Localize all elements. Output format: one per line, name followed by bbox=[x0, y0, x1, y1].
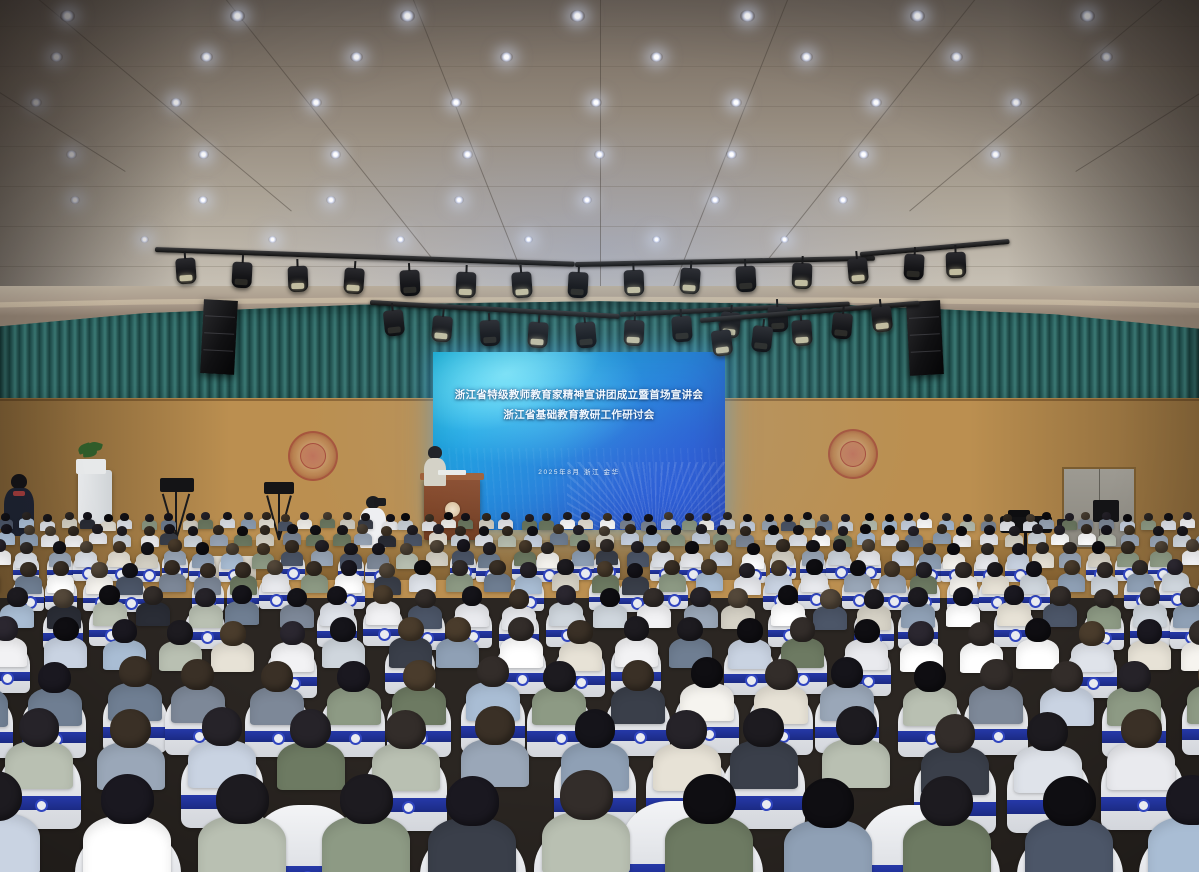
audience-member-head bbox=[556, 585, 576, 605]
audience-member-head bbox=[327, 586, 347, 606]
stage-par-light bbox=[679, 267, 701, 294]
audience-member-head bbox=[489, 560, 505, 576]
audience-member-head bbox=[525, 514, 534, 522]
par-light-lens bbox=[754, 342, 768, 349]
audience-member-head bbox=[433, 524, 444, 534]
audience-member bbox=[1148, 775, 1199, 872]
par-light-lens bbox=[949, 269, 962, 275]
audience-member-head bbox=[1140, 587, 1160, 607]
audience-member-torso bbox=[1025, 818, 1113, 872]
audience-member-head bbox=[53, 561, 69, 577]
ceiling-downlight bbox=[60, 10, 75, 22]
audience-member-head bbox=[820, 514, 829, 522]
audience-member-head bbox=[968, 622, 994, 647]
audience-member-head bbox=[196, 542, 209, 555]
audience-member-head bbox=[202, 707, 243, 746]
par-light-lens bbox=[851, 274, 864, 281]
audience-member bbox=[354, 524, 372, 544]
screen-title-line-2: 浙江省基础教育教研工作研讨会 bbox=[433, 408, 725, 422]
audience-member-head bbox=[145, 514, 154, 522]
audience-member-head bbox=[815, 526, 826, 536]
audience-member-head bbox=[600, 539, 613, 552]
audience-member-head bbox=[1121, 709, 1162, 748]
ceiling-downlight bbox=[800, 52, 813, 62]
audience-member-head bbox=[235, 562, 251, 578]
audience-member bbox=[550, 524, 568, 544]
par-light-lens bbox=[459, 289, 472, 295]
audience-member-head bbox=[216, 774, 269, 824]
audience-member-head bbox=[624, 616, 650, 641]
line-array-speaker-right bbox=[906, 300, 944, 376]
audience-member bbox=[62, 512, 77, 528]
stage-par-light bbox=[431, 315, 453, 343]
audience-member-head bbox=[306, 561, 322, 577]
audience-member-head bbox=[664, 560, 680, 576]
audience-member-head bbox=[987, 562, 1003, 578]
audience-member-head bbox=[543, 661, 575, 692]
audience-member-torso bbox=[428, 818, 516, 872]
audience-member-head bbox=[45, 526, 56, 536]
audience-member-head bbox=[1189, 620, 1199, 645]
audience-member-head bbox=[1166, 775, 1199, 825]
audience-member-head bbox=[502, 526, 513, 536]
podium-laptop bbox=[438, 470, 466, 475]
ceiling-downlight bbox=[570, 10, 585, 22]
ceiling-downlight bbox=[140, 236, 149, 243]
audience-member-head bbox=[690, 587, 710, 607]
audience-member-head bbox=[65, 512, 74, 520]
audience-member bbox=[409, 560, 436, 591]
stage-par-light bbox=[456, 272, 477, 299]
audience-member-head bbox=[188, 526, 199, 536]
audience-member-head bbox=[508, 617, 534, 642]
stage-par-light bbox=[288, 266, 309, 293]
ceiling-panel-seam bbox=[1075, 0, 1199, 172]
audience-member-head bbox=[520, 562, 536, 578]
par-light-lens bbox=[834, 329, 847, 336]
stage-par-light bbox=[175, 257, 197, 284]
audience-member-head bbox=[1042, 512, 1051, 520]
audience-member bbox=[1025, 776, 1113, 872]
ceiling-downlight bbox=[230, 10, 245, 22]
audience-member-head bbox=[908, 621, 934, 646]
audience-member-head bbox=[1124, 525, 1135, 535]
audience-member-head bbox=[287, 588, 307, 608]
audience-member-head bbox=[685, 513, 694, 521]
audience-member-head bbox=[984, 525, 995, 535]
ceiling-downlight bbox=[726, 150, 737, 159]
audience-member-head bbox=[113, 541, 126, 554]
audience-member-head bbox=[220, 621, 246, 646]
audience-member-head bbox=[728, 588, 748, 608]
audience-member-head bbox=[820, 589, 840, 609]
audience-member-head bbox=[452, 560, 468, 576]
audience-member-head bbox=[19, 708, 60, 747]
audience-member-head bbox=[600, 588, 620, 608]
ceiling-downlight bbox=[730, 98, 742, 107]
audience-member-head bbox=[702, 513, 711, 521]
ceiling-panel-seam bbox=[15, 0, 292, 212]
audience-member-head bbox=[527, 526, 538, 536]
audience-member-head bbox=[947, 543, 960, 556]
audience-member-head bbox=[186, 513, 195, 521]
audience-member-head bbox=[195, 588, 215, 608]
stage-par-light bbox=[792, 263, 813, 290]
audience-member-head bbox=[597, 561, 613, 577]
audience-member bbox=[225, 585, 259, 624]
audience-member-head bbox=[1064, 560, 1080, 576]
audience-member-head bbox=[803, 512, 812, 520]
ceiling-downlight bbox=[652, 236, 661, 243]
ceiling-downlight bbox=[1080, 10, 1095, 22]
audience-member-head bbox=[1050, 586, 1070, 606]
audience-member bbox=[83, 774, 171, 872]
audience-member-head bbox=[53, 617, 79, 642]
ceiling-downlight bbox=[198, 150, 209, 159]
line-array-speaker-left bbox=[200, 299, 238, 375]
audience-member bbox=[659, 560, 686, 591]
audience-member-head bbox=[519, 540, 532, 553]
audience-member-head bbox=[599, 526, 610, 536]
audience-member-head bbox=[446, 776, 499, 826]
audience-member-head bbox=[603, 513, 612, 521]
audience-member-head bbox=[916, 562, 932, 578]
par-light-lens bbox=[675, 333, 688, 340]
audience-member-head bbox=[373, 585, 393, 605]
par-light-lens bbox=[483, 337, 496, 344]
ceiling-downlight bbox=[1100, 52, 1113, 62]
stage-par-light bbox=[671, 315, 693, 342]
audience-member-head bbox=[737, 618, 763, 643]
audience-member-head bbox=[567, 620, 593, 645]
audience-member-torso bbox=[1187, 685, 1199, 723]
audience-member-head bbox=[414, 560, 430, 576]
audience-member-head bbox=[0, 771, 22, 821]
audience-member-head bbox=[850, 560, 866, 576]
ceiling-downlight bbox=[870, 98, 882, 107]
ceiling-downlight bbox=[594, 150, 605, 159]
audience-member-head bbox=[7, 587, 27, 607]
par-light-lens bbox=[515, 289, 528, 296]
stage-par-light bbox=[399, 269, 420, 296]
audience-member-head bbox=[261, 661, 293, 692]
audience-member bbox=[389, 617, 432, 666]
audience-member-head bbox=[280, 621, 306, 646]
plant-pot bbox=[76, 459, 106, 474]
audience-member-head bbox=[290, 709, 331, 748]
par-light-lens bbox=[626, 337, 639, 344]
audience-member-head bbox=[483, 542, 496, 555]
audience-member bbox=[1028, 524, 1046, 544]
audience-member-head bbox=[1177, 526, 1188, 536]
audience-member-head bbox=[232, 585, 252, 605]
audience-member bbox=[980, 525, 998, 545]
audience-member-head bbox=[119, 656, 151, 687]
audience-member-head bbox=[1027, 712, 1068, 751]
audience-member-head bbox=[920, 512, 929, 520]
audience-member-torso bbox=[1148, 817, 1199, 872]
audience-member-head bbox=[691, 657, 723, 688]
ceiling-downlight bbox=[30, 98, 42, 107]
audience-member-head bbox=[477, 656, 509, 687]
audience-member-head bbox=[884, 561, 900, 577]
audience-member bbox=[844, 560, 871, 591]
stage-par-light bbox=[735, 265, 756, 292]
audience-member-head bbox=[677, 617, 703, 642]
ceiling-downlight bbox=[50, 52, 63, 62]
audience-member bbox=[198, 774, 286, 872]
audience-member-head bbox=[167, 620, 193, 645]
ceiling-downlight bbox=[66, 150, 77, 159]
audience-member-head bbox=[330, 617, 356, 642]
audience-member-head bbox=[337, 661, 369, 692]
audience-member-head bbox=[260, 525, 271, 535]
audience-member-head bbox=[257, 543, 270, 556]
audience-member-head bbox=[120, 513, 129, 521]
ceiling-panel-seam bbox=[0, 0, 126, 172]
ceiling-downlight bbox=[582, 196, 592, 204]
par-light-lens bbox=[795, 337, 808, 344]
audience-member-head bbox=[1079, 621, 1105, 646]
par-light-lens bbox=[875, 322, 889, 329]
audience-member-head bbox=[644, 514, 653, 522]
audience-member-head bbox=[315, 540, 328, 553]
audience-member-head bbox=[715, 540, 728, 553]
audience-member-head bbox=[22, 512, 31, 520]
audience-member-head bbox=[281, 514, 290, 522]
audience-member-head bbox=[407, 525, 418, 535]
audience-member-head bbox=[1167, 559, 1183, 575]
audience-member-head bbox=[920, 776, 973, 826]
audience-member-head bbox=[914, 661, 946, 692]
audience-member-head bbox=[685, 541, 698, 554]
audience-member bbox=[461, 706, 529, 784]
ceiling-downlight bbox=[858, 150, 869, 159]
audience-member-head bbox=[398, 617, 424, 642]
audience-member-head bbox=[884, 525, 895, 535]
audience-member-head bbox=[99, 585, 119, 605]
stage-par-light bbox=[903, 253, 924, 280]
audience-member-head bbox=[743, 708, 784, 747]
audience-member-head bbox=[92, 524, 103, 534]
stage-par-light bbox=[527, 321, 549, 348]
ceiling-strip bbox=[0, 66, 1199, 67]
audience-member-head bbox=[1026, 561, 1042, 577]
audience-member bbox=[542, 770, 630, 870]
audience-member-head bbox=[1054, 525, 1065, 535]
audience-member-head bbox=[267, 560, 283, 576]
stage-par-light bbox=[791, 319, 813, 346]
audience-member-head bbox=[226, 543, 239, 556]
audience-member-head bbox=[53, 541, 66, 554]
stage-par-light bbox=[871, 305, 894, 333]
audience-member-head bbox=[430, 540, 443, 553]
audience-member-head bbox=[953, 587, 973, 607]
audience-member-head bbox=[622, 660, 654, 691]
ceiling-downlight bbox=[838, 196, 848, 204]
audience-member-head bbox=[1183, 512, 1192, 520]
ceiling-downlight bbox=[310, 98, 322, 107]
audience-member-head bbox=[765, 659, 797, 690]
audience-member bbox=[615, 616, 658, 665]
ceiling-downlight bbox=[990, 150, 1001, 159]
audience-member bbox=[262, 560, 289, 591]
audience-member-head bbox=[244, 512, 253, 520]
audience-member-head bbox=[864, 589, 884, 609]
audience-member-head bbox=[717, 525, 728, 535]
audience-member-torso bbox=[83, 816, 171, 872]
audience-member-head bbox=[771, 560, 787, 576]
audience-member-head bbox=[1101, 525, 1112, 535]
audience-member-head bbox=[479, 526, 490, 536]
audience-member-head bbox=[1144, 513, 1153, 521]
audience-member-head bbox=[1186, 539, 1199, 552]
par-light-lens bbox=[906, 271, 919, 278]
audience-member-head bbox=[981, 543, 994, 556]
audience-member-head bbox=[625, 524, 636, 534]
audience-member-torso bbox=[903, 818, 991, 872]
audience-member-head bbox=[323, 512, 332, 520]
audience-member bbox=[428, 776, 516, 872]
audience-member-head bbox=[802, 778, 855, 828]
stage-par-light bbox=[847, 257, 869, 285]
stage-par-light bbox=[511, 271, 533, 298]
audience-member-head bbox=[482, 513, 491, 521]
stage-par-light bbox=[624, 270, 645, 297]
audience-member bbox=[549, 585, 583, 624]
ceiling-downlight bbox=[330, 150, 341, 159]
audience-member-head bbox=[300, 512, 309, 520]
audience-member-head bbox=[739, 563, 755, 579]
audience-member-head bbox=[20, 562, 36, 578]
par-light-lens bbox=[579, 338, 592, 345]
audience-member-head bbox=[778, 585, 798, 605]
ceiling-panel-seam bbox=[766, 0, 991, 262]
audience-member-head bbox=[862, 539, 875, 552]
ceiling-downlight bbox=[710, 196, 720, 204]
audience-member-head bbox=[683, 774, 736, 824]
audience-member-head bbox=[664, 512, 673, 520]
audience-member-head bbox=[904, 513, 913, 521]
audience-member-head bbox=[400, 543, 413, 556]
audience-member-head bbox=[344, 543, 357, 556]
audience-member-head bbox=[923, 543, 936, 556]
audience-member-head bbox=[860, 524, 871, 534]
audience-member-head bbox=[425, 514, 434, 522]
ceiling-downlight bbox=[200, 52, 213, 62]
audience-member-head bbox=[696, 524, 707, 534]
audience-member-head bbox=[168, 539, 181, 552]
stage-par-light bbox=[831, 312, 853, 340]
audience-member-head bbox=[831, 657, 863, 688]
audience-member-head bbox=[386, 514, 395, 522]
audience-member-head bbox=[462, 586, 482, 606]
audience-seating bbox=[0, 505, 1199, 872]
audience-member bbox=[933, 524, 951, 544]
par-light-lens bbox=[403, 287, 416, 294]
audience-member-head bbox=[743, 514, 752, 522]
ceiling-downlight bbox=[350, 52, 363, 62]
audience-member-head bbox=[80, 541, 93, 554]
par-light-lens bbox=[346, 285, 359, 292]
ceiling-downlight bbox=[198, 196, 208, 204]
audience-member bbox=[822, 706, 890, 784]
audience-member-head bbox=[223, 512, 232, 520]
par-light-lens bbox=[795, 280, 808, 286]
audience-member-head bbox=[1, 513, 10, 521]
audience-member-head bbox=[1132, 560, 1148, 576]
ceiling-strip bbox=[0, 26, 1199, 27]
audience-member-head bbox=[1123, 514, 1132, 522]
audience-member-head bbox=[455, 526, 466, 536]
audience-member-head bbox=[631, 541, 644, 554]
audience-member-head bbox=[444, 512, 453, 520]
audience-member-head bbox=[575, 709, 616, 748]
audience-member-head bbox=[20, 542, 33, 555]
screen-title-line-1: 浙江省特级教师教育家精神宣讲团成立暨首场宣讲会 bbox=[433, 388, 725, 402]
audience-member-head bbox=[415, 589, 435, 609]
stage-par-light bbox=[231, 261, 252, 288]
audience-member-head bbox=[557, 559, 573, 575]
stage-par-light bbox=[479, 319, 500, 346]
audience-member-head bbox=[865, 513, 874, 521]
audience-member-head bbox=[1121, 541, 1134, 554]
audience-member-head bbox=[657, 541, 670, 554]
audience-member-head bbox=[1094, 589, 1114, 609]
audience-member-head bbox=[577, 540, 590, 553]
ceiling-downlight bbox=[70, 196, 80, 204]
audience-member-head bbox=[341, 560, 357, 576]
ceiling-downlight bbox=[400, 10, 415, 22]
tripod-camera-head-2 bbox=[264, 482, 294, 494]
audience-member-head bbox=[833, 539, 846, 552]
audience-member-head bbox=[1012, 543, 1025, 556]
audience-member-head bbox=[790, 617, 816, 642]
audience-member-head bbox=[1155, 541, 1168, 554]
audience-member-torso bbox=[0, 550, 11, 566]
audience-member-torso bbox=[542, 812, 630, 872]
audience-member-head bbox=[854, 619, 880, 644]
audience-member-head bbox=[806, 559, 822, 575]
ceiling-panel-seam bbox=[210, 0, 435, 262]
audience-member-head bbox=[38, 662, 70, 693]
audience-member-head bbox=[379, 563, 395, 579]
audience-member-head bbox=[623, 513, 632, 521]
audience-member-head bbox=[1032, 524, 1043, 534]
audience-member-torso bbox=[665, 816, 753, 872]
audience-member-head bbox=[841, 514, 850, 522]
audience-member-head bbox=[68, 526, 79, 536]
audience-member-head bbox=[457, 539, 470, 552]
audience-member-head bbox=[53, 589, 73, 609]
par-light-lens bbox=[627, 287, 640, 293]
par-light-lens bbox=[682, 285, 695, 292]
stage-par-light bbox=[710, 329, 733, 357]
par-light-lens bbox=[739, 283, 752, 290]
stage-par-light bbox=[567, 271, 588, 298]
ceiling-downlight bbox=[396, 236, 405, 243]
audience-member-head bbox=[461, 513, 470, 521]
ceiling-downlight bbox=[910, 10, 925, 22]
audience-member-head bbox=[747, 543, 760, 556]
audience-member-head bbox=[908, 587, 928, 607]
audience-member-head bbox=[935, 714, 976, 753]
par-light-lens bbox=[434, 332, 447, 339]
audience-member-head bbox=[117, 526, 128, 536]
ceiling-downlight bbox=[500, 52, 513, 62]
audience-member-head bbox=[627, 563, 643, 579]
ceiling-strip bbox=[0, 226, 1199, 227]
